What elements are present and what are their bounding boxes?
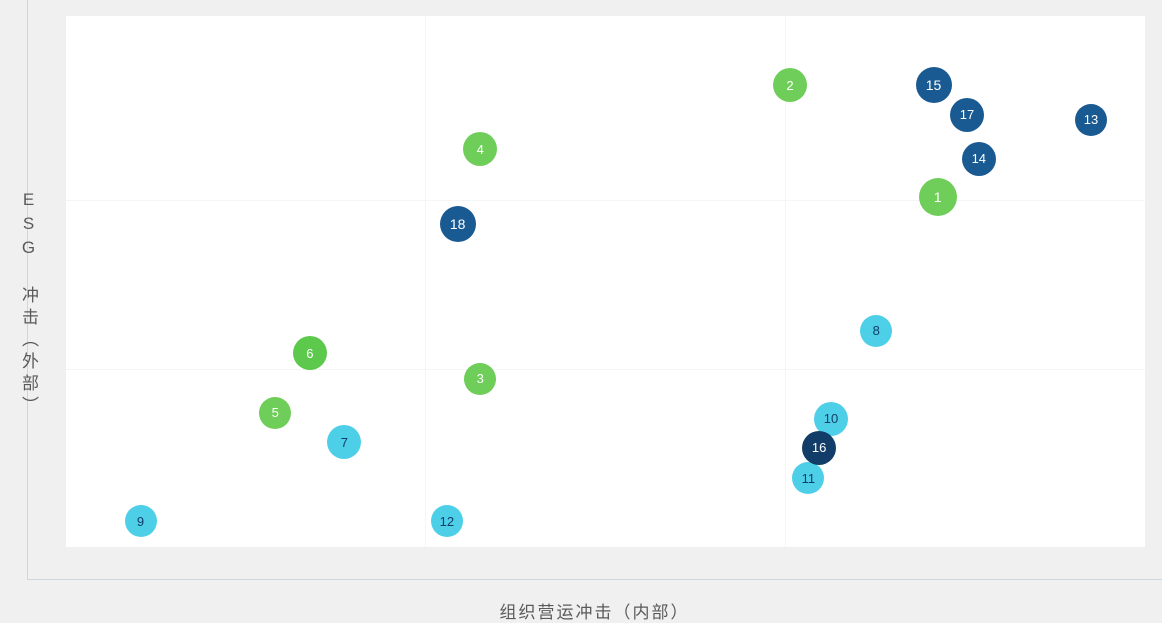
data-point-11[interactable]: 11 bbox=[792, 462, 824, 494]
bubble-chart: ESG 冲击（外部） 组织营运冲击（内部） 123456789101112131… bbox=[0, 0, 1162, 615]
plot-area: 123456789101112131415161718 bbox=[66, 16, 1145, 547]
data-point-8[interactable]: 8 bbox=[860, 315, 892, 347]
x-axis-title-container: 组织营运冲击（内部） bbox=[27, 579, 1162, 615]
data-point-1[interactable]: 1 bbox=[919, 178, 957, 216]
data-point-7[interactable]: 7 bbox=[327, 425, 361, 459]
gridline-horizontal bbox=[66, 200, 1145, 201]
data-point-15[interactable]: 15 bbox=[916, 67, 952, 103]
data-point-16[interactable]: 16 bbox=[802, 431, 836, 465]
data-point-12[interactable]: 12 bbox=[431, 505, 463, 537]
data-point-3[interactable]: 3 bbox=[464, 363, 496, 395]
data-point-13[interactable]: 13 bbox=[1075, 104, 1107, 136]
data-point-18[interactable]: 18 bbox=[440, 206, 476, 242]
data-point-17[interactable]: 17 bbox=[950, 98, 984, 132]
data-point-6[interactable]: 6 bbox=[293, 336, 327, 370]
data-point-4[interactable]: 4 bbox=[463, 132, 497, 166]
gridline-horizontal bbox=[66, 369, 1145, 370]
data-point-2[interactable]: 2 bbox=[773, 68, 807, 102]
data-point-5[interactable]: 5 bbox=[259, 397, 291, 429]
y-axis-title: ESG 冲击（外部） bbox=[8, 190, 48, 418]
data-point-9[interactable]: 9 bbox=[125, 505, 157, 537]
x-axis-title: 组织营运冲击（内部） bbox=[482, 598, 708, 623]
data-point-14[interactable]: 14 bbox=[962, 142, 996, 176]
gridline-vertical bbox=[425, 16, 426, 547]
